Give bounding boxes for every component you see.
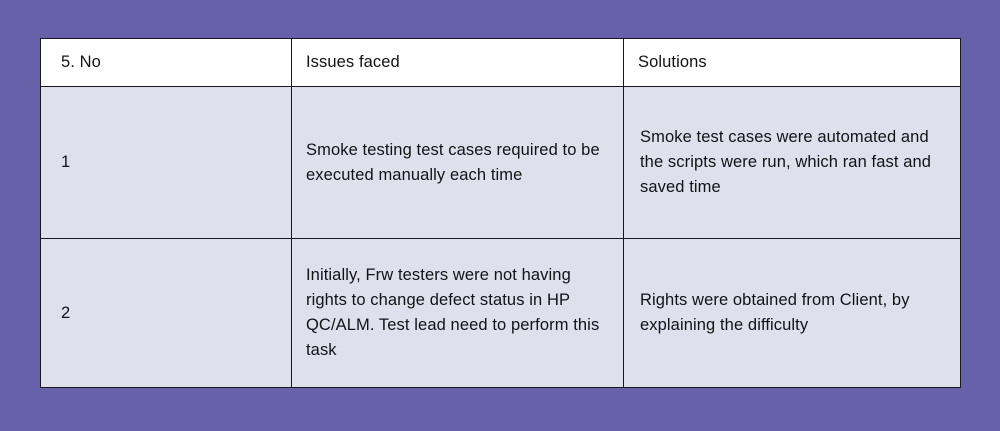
- issues-and-solutions-table: 5. No Issues faced Solutions 1 Smoke tes…: [40, 38, 961, 388]
- cell-row-number: 1: [41, 87, 292, 239]
- row-number-text: 2: [61, 301, 277, 326]
- column-header-issues-faced: Issues faced: [292, 39, 624, 87]
- row-number-text: 1: [61, 150, 277, 175]
- solution-text: Rights were obtained from Client, by exp…: [640, 288, 948, 338]
- column-header-no: 5. No: [41, 39, 292, 87]
- issue-text: Initially, Frw testers were not having r…: [306, 263, 615, 363]
- slide-canvas: 5. No Issues faced Solutions 1 Smoke tes…: [0, 0, 1000, 431]
- table-row: 1 Smoke testing test cases required to b…: [41, 87, 961, 239]
- cell-row-number: 2: [41, 239, 292, 388]
- table-body: 1 Smoke testing test cases required to b…: [41, 87, 961, 388]
- solution-text: Smoke test cases were automated and the …: [640, 125, 948, 200]
- cell-issue-faced: Smoke testing test cases required to be …: [292, 87, 624, 239]
- cell-solution: Rights were obtained from Client, by exp…: [624, 239, 961, 388]
- issue-text: Smoke testing test cases required to be …: [306, 138, 615, 188]
- table-row: 2 Initially, Frw testers were not having…: [41, 239, 961, 388]
- table-header: 5. No Issues faced Solutions: [41, 39, 961, 87]
- table-header-row: 5. No Issues faced Solutions: [41, 39, 961, 87]
- cell-solution: Smoke test cases were automated and the …: [624, 87, 961, 239]
- cell-issue-faced: Initially, Frw testers were not having r…: [292, 239, 624, 388]
- column-header-solutions: Solutions: [624, 39, 961, 87]
